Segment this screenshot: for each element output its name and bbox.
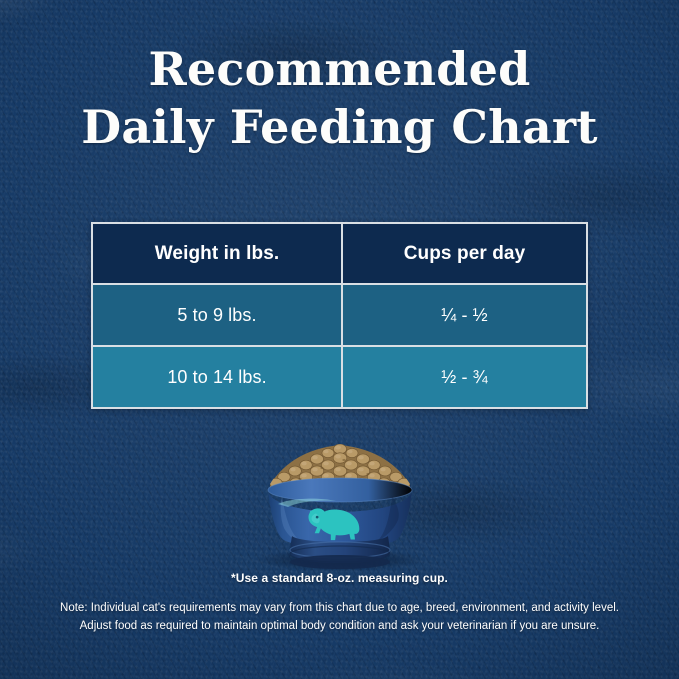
page-title-line-1: Recommended (0, 46, 679, 92)
table-row: 5 to 9 lbs. ¼ - ½ (93, 283, 586, 345)
column-header-cups: Cups per day (343, 224, 586, 283)
table-header-row: Weight in lbs. Cups per day (93, 224, 586, 283)
feeding-chart-table: Weight in lbs. Cups per day 5 to 9 lbs. … (91, 222, 588, 409)
page-title-line-2: Daily Feeding Chart (0, 104, 679, 150)
cell-cups-per-day-2: ½ - ¾ (343, 347, 586, 407)
disclaimer-line-1: Note: Individual cat's requirements may … (0, 600, 679, 618)
cell-weight-range-2: 10 to 14 lbs. (93, 347, 343, 407)
disclaimer-line-2: Adjust food as required to maintain opti… (0, 618, 679, 636)
table-row: 10 to 14 lbs. ½ - ¾ (93, 345, 586, 407)
page-title: Recommended Daily Feeding Chart (0, 46, 679, 150)
disclaimer-note: Note: Individual cat's requirements may … (0, 600, 679, 636)
dog-food-bowl-image (232, 432, 448, 572)
measuring-cup-note: *Use a standard 8-oz. measuring cup. (0, 571, 679, 585)
cell-cups-per-day-1: ¼ - ½ (343, 285, 586, 345)
column-header-weight: Weight in lbs. (93, 224, 343, 283)
cell-weight-range-1: 5 to 9 lbs. (93, 285, 343, 345)
